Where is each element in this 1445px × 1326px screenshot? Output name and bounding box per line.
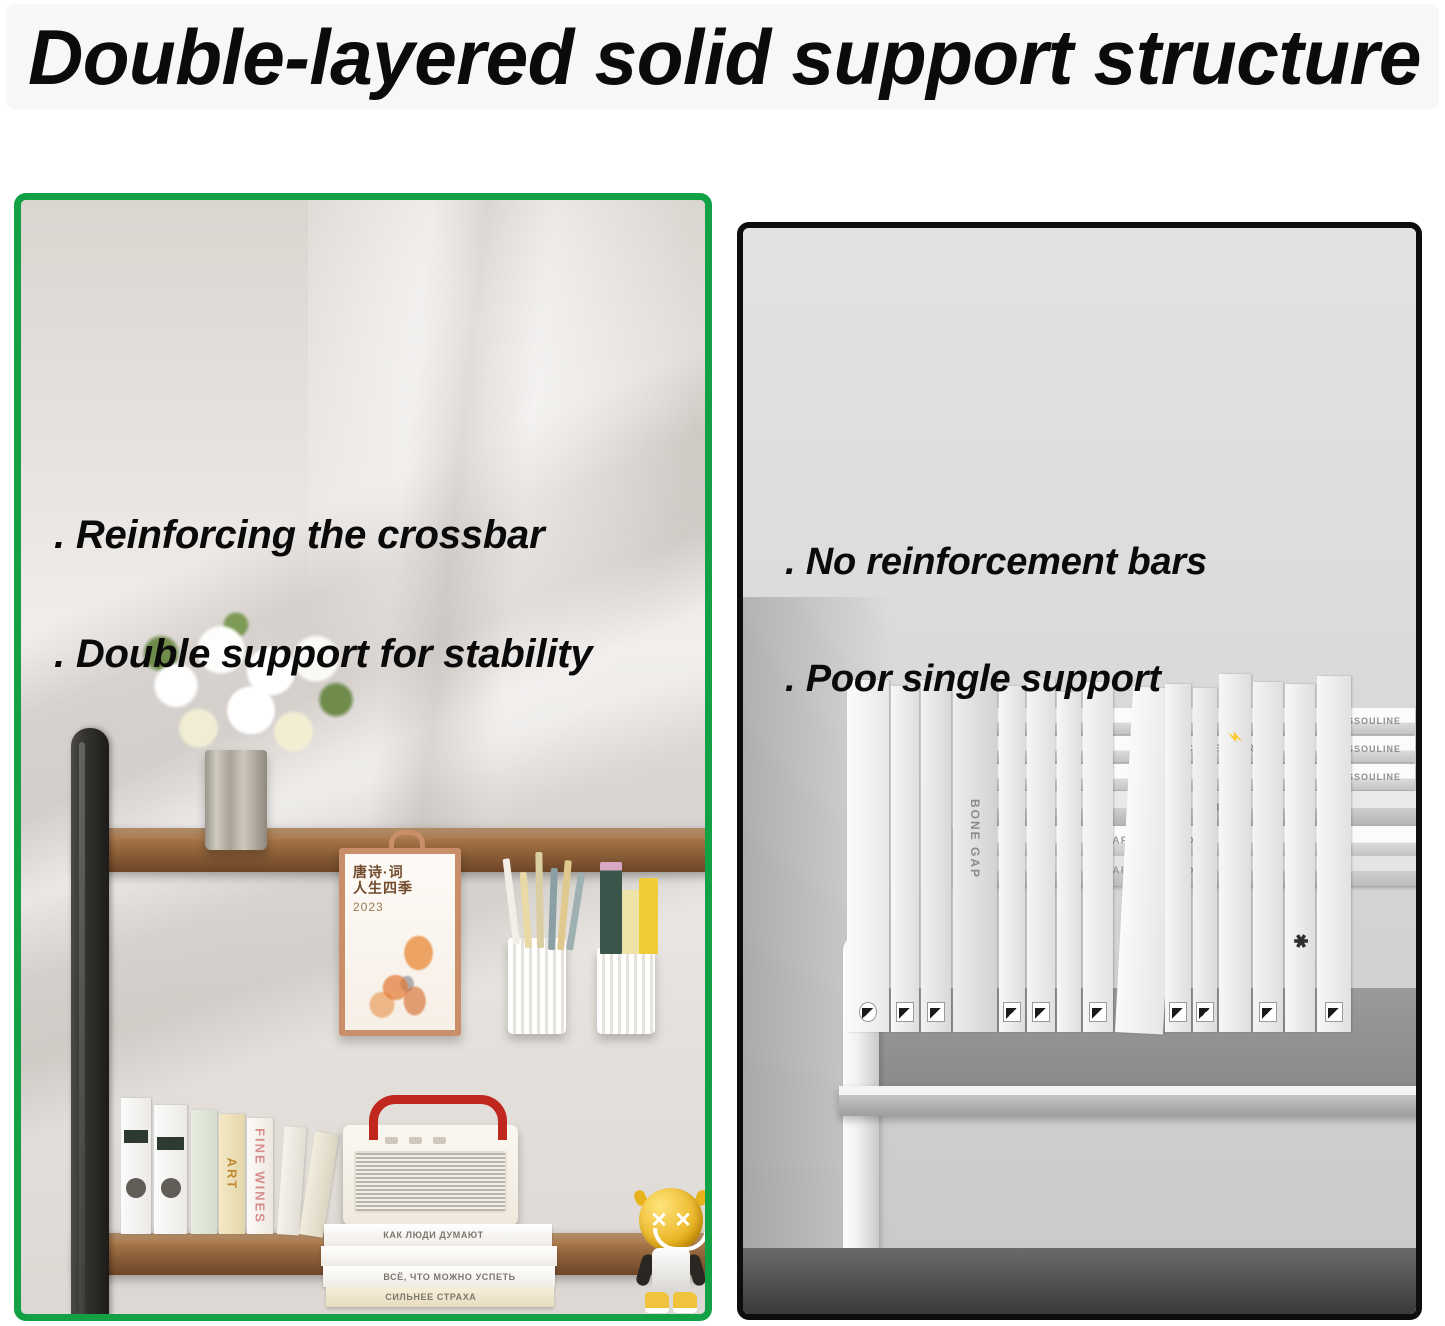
- marker: [600, 862, 622, 954]
- calendar-year: 2023: [353, 900, 384, 914]
- book-spine-art: ART: [219, 1114, 245, 1234]
- vertical-book: [1083, 682, 1113, 1032]
- bad-panel-image: ❦ MODE SEASONS ASSOULINE ✦ NEW ARCHITECT…: [743, 228, 1416, 1314]
- marker: [639, 878, 658, 954]
- shelf-board-upper: [839, 1086, 1416, 1116]
- vertical-book: [1027, 678, 1055, 1032]
- vertical-book: ⚡: [1219, 674, 1251, 1032]
- good-example-panel: 唐诗·词人生四季 2023: [14, 193, 712, 1321]
- stacked-book: [321, 1246, 557, 1266]
- book-spine: [191, 1110, 217, 1234]
- callout-reinforcing-crossbar: . Reinforcing the crossbar: [54, 513, 544, 558]
- vertical-book: [1253, 682, 1283, 1032]
- callout-no-reinforcement: . No reinforcement bars: [785, 541, 1207, 584]
- calendar-illustration: [359, 928, 455, 1024]
- callout-double-support: . Double support for stability: [54, 632, 592, 677]
- vertical-book: ✱: [1285, 684, 1315, 1032]
- metal-frame-post: [71, 728, 109, 1314]
- stacked-book: ВСЁ, ЧТО МОЖНО УСПЕТЬ: [323, 1266, 555, 1287]
- good-panel-image: 唐诗·词人生四季 2023: [21, 200, 705, 1314]
- desk-calendar: 唐诗·词人生四季 2023: [339, 848, 461, 1036]
- figurine-shoe: [645, 1292, 669, 1313]
- smiley-figurine: ✕ ✕: [633, 1188, 705, 1314]
- title-banner: Double-layered solid support structure: [6, 4, 1439, 109]
- vertical-book: [1057, 692, 1081, 1032]
- marker-holder: [597, 948, 655, 1034]
- radio-handle: [369, 1095, 507, 1140]
- calendar-chinese-text: 唐诗·词人生四季: [353, 864, 413, 896]
- stacked-book: СИЛЬНЕЕ СТРАХА: [326, 1287, 554, 1307]
- radio-knob: [409, 1137, 422, 1144]
- vertical-book: [847, 680, 889, 1032]
- radio-speaker-grille: [354, 1151, 507, 1213]
- vertical-book: [921, 680, 951, 1032]
- radio-knob: [385, 1137, 398, 1144]
- lever-arch-binder: [121, 1098, 151, 1234]
- retro-radio: [343, 1125, 518, 1225]
- lever-arch-binder: [154, 1105, 187, 1234]
- vertical-book: [1317, 676, 1351, 1032]
- callout-poor-support: . Poor single support: [785, 658, 1161, 701]
- book-spine-fine-wines: FINE WINES: [247, 1118, 273, 1234]
- glass-vase: [205, 750, 267, 850]
- vertical-book: [1165, 684, 1191, 1032]
- vertical-book: [1193, 688, 1217, 1032]
- vertical-book-bone-gap: BONE GAP: [953, 674, 997, 1032]
- pen-holder: [508, 938, 566, 1034]
- figurine-shoe: [673, 1292, 697, 1313]
- radio-knob: [433, 1137, 446, 1144]
- page-title: Double-layered solid support structure: [28, 18, 1421, 96]
- figurine-body: [652, 1248, 690, 1294]
- bad-example-panel: ❦ MODE SEASONS ASSOULINE ✦ NEW ARCHITECT…: [737, 222, 1422, 1320]
- vertical-book: [891, 686, 919, 1032]
- bottom-shadow: [743, 1248, 1416, 1314]
- vertical-book: [999, 686, 1025, 1032]
- stacked-book: КАК ЛЮДИ ДУМАЮТ: [324, 1224, 552, 1246]
- figurine-head: ✕ ✕: [639, 1188, 703, 1252]
